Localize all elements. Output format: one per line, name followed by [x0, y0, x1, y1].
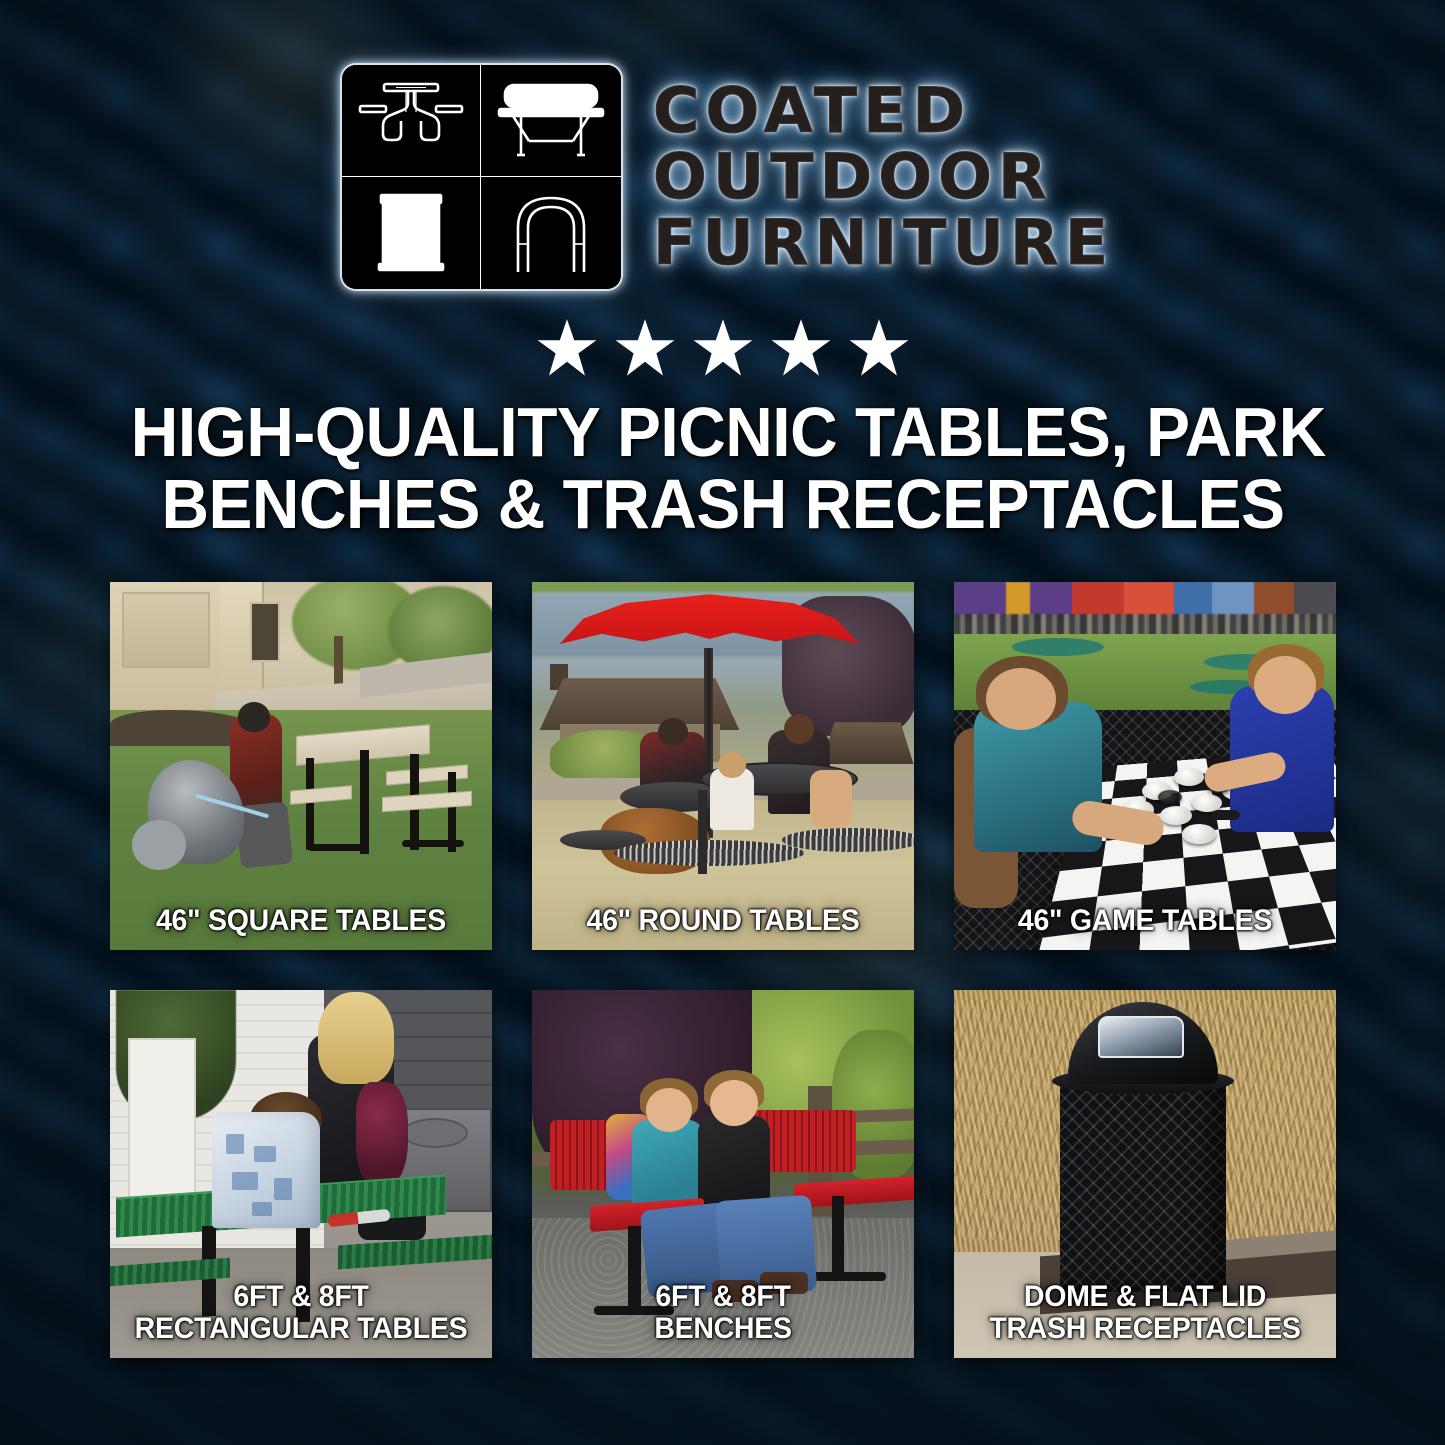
product-grid: 46" SQUARE TABLES [109, 582, 1337, 1358]
brand-name-line-3: FURNITURE [653, 211, 1114, 275]
headline-line-2: BENCHES & TRASH RECEPTACLES [130, 468, 1314, 540]
rating-stars [537, 316, 909, 380]
brand-name-line-1: COATED [653, 79, 1114, 143]
headline: HIGH-QUALITY PICNIC TABLES, PARK BENCHES… [130, 396, 1314, 540]
caption-line-2: BENCHES [541, 1314, 904, 1344]
star-icon [537, 319, 597, 377]
product-tile-square-tables[interactable]: 46" SQUARE TABLES [110, 582, 492, 950]
bike-rack-arch-icon [481, 177, 621, 289]
product-tile-rectangular-tables[interactable]: 6FT & 8FT RECTANGULAR TABLES [110, 990, 492, 1358]
trash-receptacle-icon [342, 177, 482, 289]
product-tile-benches[interactable]: 6FT & 8FT BENCHES [532, 990, 914, 1358]
caption-line-1: 46" SQUARE TABLES [119, 906, 482, 936]
star-icon [693, 319, 753, 377]
caption-line-1: 46" ROUND TABLES [541, 906, 904, 936]
brand-name-line-2: OUTDOOR [653, 145, 1114, 209]
product-caption-game-tables: 46" GAME TABLES [963, 906, 1326, 936]
product-tile-game-tables[interactable]: 46" GAME TABLES [954, 582, 1336, 950]
logo-icon-grid [340, 63, 623, 291]
product-caption-round-tables: 46" ROUND TABLES [541, 906, 904, 936]
product-photo-round-tables [532, 582, 914, 950]
product-tile-round-tables[interactable]: 46" ROUND TABLES [532, 582, 914, 950]
caption-line-1: 46" GAME TABLES [963, 906, 1326, 936]
bench-table-side-icon [481, 65, 621, 177]
caption-line-1: DOME & FLAT LID [963, 1282, 1326, 1312]
caption-line-2: RECTANGULAR TABLES [119, 1314, 482, 1344]
caption-line-1: 6FT & 8FT [119, 1282, 482, 1312]
product-tile-trash-receptacles[interactable]: DOME & FLAT LID TRASH RECEPTACLES [954, 990, 1336, 1358]
product-caption-benches: 6FT & 8FT BENCHES [541, 1282, 904, 1344]
caption-line-1: 6FT & 8FT [541, 1282, 904, 1312]
product-photo-square-tables [110, 582, 492, 950]
product-caption-square-tables: 46" SQUARE TABLES [119, 906, 482, 936]
product-caption-trash-receptacles: DOME & FLAT LID TRASH RECEPTACLES [963, 1282, 1326, 1344]
promotional-poster: COATED OUTDOOR FURNITURE HIGH-QUALITY PI… [0, 0, 1445, 1445]
caption-line-2: TRASH RECEPTACLES [963, 1314, 1326, 1344]
product-caption-rectangular-tables: 6FT & 8FT RECTANGULAR TABLES [119, 1282, 482, 1344]
star-icon [849, 319, 909, 377]
headline-line-1: HIGH-QUALITY PICNIC TABLES, PARK [130, 396, 1314, 468]
poster-content: COATED OUTDOOR FURNITURE HIGH-QUALITY PI… [0, 0, 1445, 1445]
star-icon [615, 319, 675, 377]
product-photo-game-tables [954, 582, 1336, 950]
brand-logo: COATED OUTDOOR FURNITURE [340, 62, 1105, 292]
picnic-table-front-icon [342, 65, 482, 177]
star-icon [771, 319, 831, 377]
brand-name: COATED OUTDOOR FURNITURE [653, 79, 1105, 275]
